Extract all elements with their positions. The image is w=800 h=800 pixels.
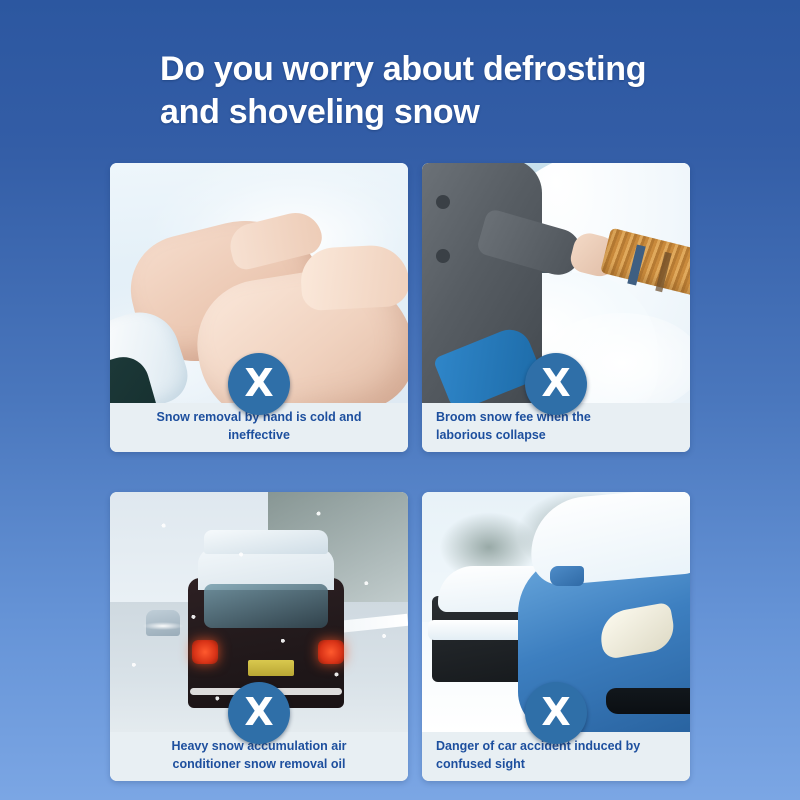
card-broom[interactable]: X Broom snow fee when thelaborious colla… (422, 163, 690, 452)
page-title-line-1: Do you worry about defrosting (160, 48, 720, 91)
blue-car-bumper (606, 688, 690, 714)
card-caption-line-2: confused sight (436, 757, 525, 771)
x-badge: X (525, 353, 587, 415)
x-badge-symbol: X (244, 693, 273, 731)
x-badge-symbol: X (541, 693, 570, 731)
card-caption-line-2: laborious collapse (436, 428, 546, 442)
x-badge-symbol: X (541, 364, 570, 402)
card-caption-text: Broom snow fee when thelaborious collaps… (436, 409, 591, 445)
x-badge: X (228, 353, 290, 415)
x-badge-symbol: X (244, 364, 273, 402)
page-title: Do you worry about defrosting and shovel… (160, 48, 720, 134)
x-badge: X (228, 682, 290, 744)
card-driving[interactable]: X Heavy snow accumulation airconditioner… (110, 492, 408, 781)
x-badge: X (525, 682, 587, 744)
fingers-lower (299, 244, 408, 312)
page-title-line-2: and shoveling snow (160, 91, 720, 134)
card-hand[interactable]: X Snow removal by hand is cold and ineff… (110, 163, 408, 452)
side-mirror (550, 566, 584, 586)
benefit-card-grid: X Snow removal by hand is cold and ineff… (110, 163, 690, 778)
card-caption-line-1: Danger of car accident induced by (436, 739, 640, 753)
card-accident[interactable]: X Danger of car accident induced byconfu… (422, 492, 690, 781)
card-caption-line-2: conditioner snow removal oil (173, 757, 346, 771)
card-caption-text: Danger of car accident induced byconfuse… (436, 738, 640, 774)
